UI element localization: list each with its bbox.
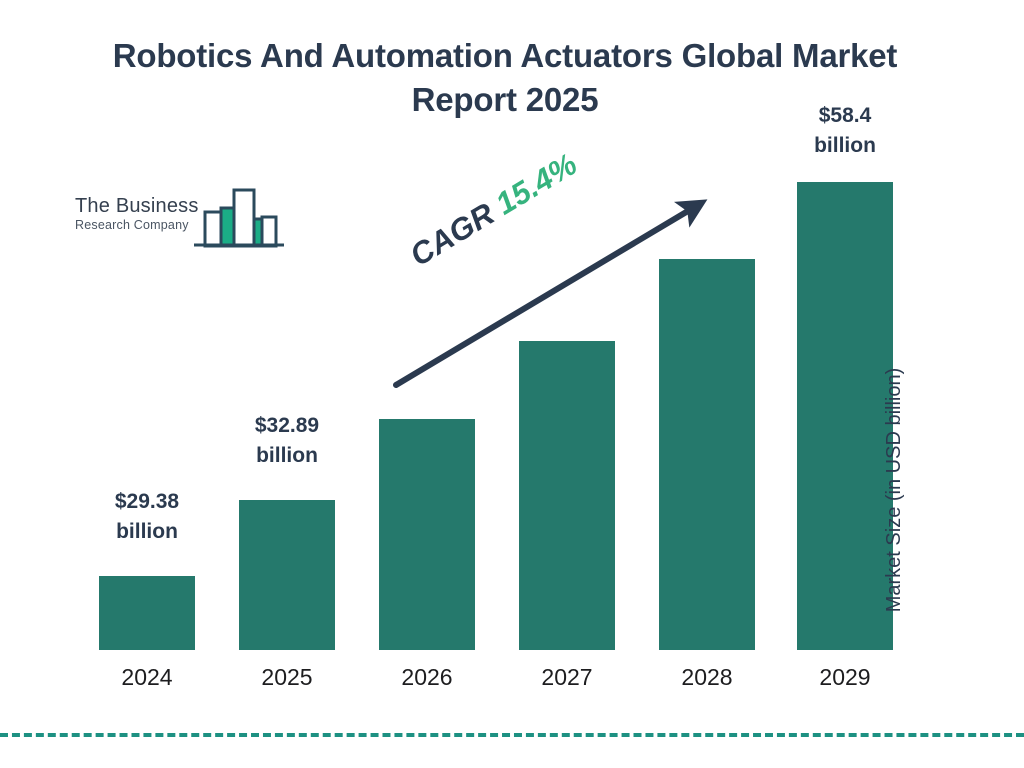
x-tick-2028: 2028 xyxy=(632,663,782,691)
bar-chart-plot: $29.38 billion $32.89 billion $58.4 bill… xyxy=(0,0,1024,768)
footer-divider xyxy=(0,733,1024,737)
chart-page: Robotics And Automation Actuators Global… xyxy=(0,0,1024,768)
x-tick-2027: 2027 xyxy=(492,663,642,691)
growth-arrow xyxy=(0,0,1024,768)
x-tick-2026: 2026 xyxy=(352,663,502,691)
x-tick-2024: 2024 xyxy=(72,663,222,691)
y-axis-title: Market Size (in USD billion) xyxy=(883,330,906,650)
x-tick-2029: 2029 xyxy=(770,663,920,691)
x-tick-2025: 2025 xyxy=(212,663,362,691)
